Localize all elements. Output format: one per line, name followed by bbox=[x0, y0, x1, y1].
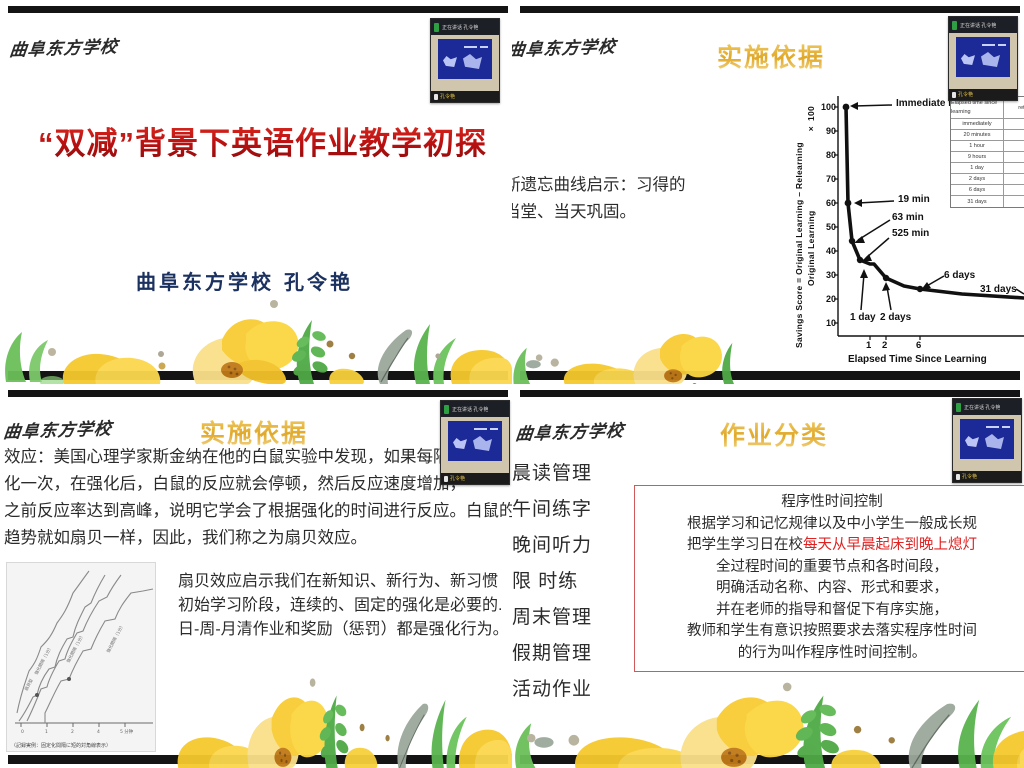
table-row: immediately bbox=[951, 119, 1024, 130]
table-row: 9 hours bbox=[951, 152, 1024, 163]
video-thumbnail-header: 正在讲话 孔令艳 bbox=[441, 401, 509, 417]
slide-panel-title: 曲阜东方学校 “双减”背景下英语作业教学初探 曲阜东方学校 孔令艳 bbox=[0, 0, 512, 384]
table-cell: 1 hour bbox=[969, 143, 985, 149]
slide-panel-basis-curve: 曲阜东方学校 实施依据 斯遗忘曲线启示：习得的 当堂、当天巩固。 bbox=[512, 0, 1024, 384]
table-cell: 31 days bbox=[967, 199, 986, 205]
category-item-weekend[interactable]: 周末管理 bbox=[512, 600, 592, 636]
category-item-holiday[interactable]: 假期管理 bbox=[512, 636, 592, 672]
cumulative-record-plot: 012 45 分钟 扇貝型 強化間隔（1分） 強化間隔（1分） 強化間隔（1分） bbox=[7, 563, 157, 753]
video-thumbnail-footer: 孔令艳 bbox=[949, 89, 1017, 100]
table-cell: 20 minutes bbox=[964, 132, 991, 138]
category-item-timed-practice[interactable]: 限 时练 bbox=[512, 564, 592, 600]
svg-text:5 分钟: 5 分钟 bbox=[120, 728, 134, 735]
slide-top-bar bbox=[520, 390, 1020, 397]
definition-line-highlight: 每天从早晨起床到晚上熄灯 bbox=[803, 537, 977, 553]
svg-text:1: 1 bbox=[45, 729, 48, 735]
slide-bottom-bar bbox=[8, 371, 508, 380]
participant-name: 孔令艳 bbox=[962, 473, 977, 480]
definition-line: 全过程时间的重要节点和各时间段， bbox=[635, 557, 1024, 579]
cumulative-record-chart: 012 45 分钟 扇貝型 強化間隔（1分） 強化間隔（1分） 強化間隔（1分）… bbox=[6, 562, 156, 752]
school-mark: 曲阜东方学校 bbox=[2, 414, 113, 443]
note-line: 扇贝效应启示我们在新知识、新行为、新习惯 bbox=[178, 570, 509, 594]
slide-panel-homework-category: 曲阜东方学校 作业分类 晨读管理 午间练字 晚间听力 限 时练 周末管理 假期管… bbox=[512, 384, 1024, 768]
slide-panel-basis-scallop: 曲阜东方学校 实施依据 效应：美国心理学家斯金纳在他的白鼠实验中发现，如果每隔2… bbox=[0, 384, 512, 768]
shared-screen-preview bbox=[448, 421, 502, 461]
video-thumbnail-header-label: 正在讲话 孔令艳 bbox=[452, 406, 488, 413]
definition-heading: 程序性时间控制 bbox=[635, 492, 1024, 514]
cumulative-record-caption: （記録実例：固定化間隔に短的対角線表示） bbox=[11, 742, 111, 749]
definition-line: 的行为叫作程序性时间控制。 bbox=[635, 643, 1024, 665]
category-item-evening-listening[interactable]: 晚间听力 bbox=[512, 528, 592, 564]
video-thumbnail-header-label: 正在讲话 孔令艳 bbox=[960, 22, 996, 29]
category-item-noon-handwriting[interactable]: 午间练字 bbox=[512, 492, 592, 528]
table-row: 2 days bbox=[951, 174, 1024, 185]
video-thumbnail-header: 正在讲话 孔令艳 bbox=[431, 19, 499, 35]
table-row: 1 hour bbox=[951, 141, 1024, 152]
table-row: 20 minutes bbox=[951, 130, 1024, 141]
presenter-subtitle: 曲阜东方学校 孔令艳 bbox=[136, 266, 353, 295]
video-thumbnail[interactable]: 正在讲话 孔令艳 孔令艳 bbox=[440, 400, 510, 485]
shared-screen-preview bbox=[960, 419, 1014, 459]
table-col-header-elapsed: Elapsed time since learning bbox=[951, 99, 1003, 117]
category-item-morning-reading[interactable]: 晨读管理 bbox=[512, 456, 592, 492]
speaking-indicator-icon bbox=[444, 405, 449, 414]
body-line: 化一次，在强化后，白鼠的反应就会停顿，然后反应速度增加， bbox=[4, 471, 512, 498]
definition-line: 根据学习和记忆规律以及中小学生一般成长规 bbox=[635, 514, 1024, 536]
category-list: 晨读管理 午间练字 晚间听力 限 时练 周末管理 假期管理 活动作业 bbox=[512, 456, 592, 708]
slide-top-bar bbox=[520, 6, 1020, 13]
school-mark: 曲阜东方学校 bbox=[8, 32, 119, 61]
school-mark: 曲阜东方学校 bbox=[512, 32, 618, 61]
body-line: 趋势就如扇贝一样，因此，我们称之为扇贝效应。 bbox=[4, 525, 512, 552]
table-cell: immediately bbox=[962, 121, 991, 127]
section-title: 实施依据 bbox=[717, 38, 825, 74]
note-line: 日-周-月清作业和奖励（惩罚）都是强化行为。 bbox=[178, 618, 509, 642]
svg-text:2: 2 bbox=[71, 729, 74, 735]
shared-screen-preview bbox=[438, 39, 492, 79]
speaking-indicator-icon bbox=[434, 23, 439, 32]
video-thumbnail-header-label: 正在讲话 孔令艳 bbox=[442, 24, 478, 31]
speaking-indicator-icon bbox=[952, 21, 957, 30]
microphone-icon bbox=[444, 476, 448, 482]
microphone-icon bbox=[952, 92, 956, 98]
video-thumbnail-footer: 孔令艳 bbox=[953, 471, 1021, 482]
video-thumbnail-footer: 孔令艳 bbox=[441, 473, 509, 484]
microphone-icon bbox=[434, 94, 438, 100]
category-item-activity[interactable]: 活动作业 bbox=[512, 672, 592, 708]
video-thumbnail[interactable]: 正在讲话 孔令艳 孔令艳 bbox=[948, 16, 1018, 101]
slide-grid: 曲阜东方学校 “双减”背景下英语作业教学初探 曲阜东方学校 孔令艳 bbox=[0, 0, 1024, 768]
video-thumbnail-header-label: 正在讲话 孔令艳 bbox=[964, 404, 1000, 411]
section-title: 作业分类 bbox=[720, 416, 828, 452]
school-mark: 曲阜东方学校 bbox=[514, 416, 625, 445]
slide-top-bar bbox=[8, 6, 508, 13]
forgetting-curve-chart: Savings Score = Original Learning – Rele… bbox=[792, 88, 1024, 358]
definition-line: 并在老师的指导和督促下有序实施， bbox=[635, 600, 1024, 622]
body-line: 斯遗忘曲线启示：习得的 bbox=[512, 172, 686, 199]
slide-bottom-bar bbox=[520, 755, 1020, 764]
slide-bottom-bar bbox=[520, 371, 1020, 380]
body-line: 之前反应率达到高峰，说明它学会了根据强化的时间进行反应。白鼠的 bbox=[4, 498, 512, 525]
table-row: 6 days bbox=[951, 185, 1024, 196]
participant-name: 孔令艳 bbox=[450, 475, 465, 482]
participant-name: 孔令艳 bbox=[958, 91, 973, 98]
elapsed-time-table: Elapsed time since learning ret immediat… bbox=[950, 96, 1024, 208]
definition-box: 程序性时间控制 根据学习和记忆规律以及中小学生一般成长规 把学生学习日在校每天从… bbox=[634, 485, 1024, 672]
video-thumbnail[interactable]: 正在讲话 孔令艳 孔令艳 bbox=[952, 398, 1022, 483]
table-col-header-retention: ret bbox=[1018, 105, 1024, 111]
table-cell: 6 days bbox=[969, 187, 985, 193]
body-line: 效应：美国心理学家斯金纳在他的白鼠实验中发现，如果每隔20 bbox=[4, 444, 512, 471]
slide-body-text: 效应：美国心理学家斯金纳在他的白鼠实验中发现，如果每隔20 化一次，在强化后，白… bbox=[4, 444, 512, 552]
table-row: 31 days bbox=[951, 196, 1024, 207]
speaking-indicator-icon bbox=[956, 403, 961, 412]
slide-bottom-bar bbox=[8, 755, 508, 764]
svg-text:4: 4 bbox=[97, 729, 100, 735]
slide-top-bar bbox=[8, 390, 508, 397]
definition-line: 明确活动名称、内容、形式和要求， bbox=[635, 578, 1024, 600]
participant-name: 孔令艳 bbox=[440, 93, 455, 100]
body-line: 当堂、当天巩固。 bbox=[512, 199, 686, 226]
note-line: 初始学习阶段，连续的、固定的强化是必要的. bbox=[178, 594, 509, 618]
definition-line: 把学生学习日在校每天从早晨起床到晚上熄灯 bbox=[635, 535, 1024, 557]
slide-body-text: 斯遗忘曲线启示：习得的 当堂、当天巩固。 bbox=[512, 172, 686, 226]
table-cell: 2 days bbox=[969, 176, 985, 182]
scallop-note: 扇贝效应启示我们在新知识、新行为、新习惯 初始学习阶段，连续的、固定的强化是必要… bbox=[178, 570, 509, 642]
svg-text:強化間隔（1分）: 強化間隔（1分） bbox=[105, 622, 126, 654]
video-thumbnail-footer: 孔令艳 bbox=[431, 91, 499, 102]
page-title: “双减”背景下英语作业教学初探 bbox=[38, 118, 487, 163]
definition-line-plain: 把学生学习日在校 bbox=[687, 537, 803, 553]
microphone-icon bbox=[956, 474, 960, 480]
video-thumbnail[interactable]: 正在讲话 孔令艳 孔令艳 bbox=[430, 18, 500, 103]
table-row: 1 day bbox=[951, 163, 1024, 174]
shared-screen-preview bbox=[956, 37, 1010, 77]
table-cell: 1 day bbox=[970, 165, 983, 171]
table-cell: 9 hours bbox=[968, 154, 986, 160]
video-thumbnail-header: 正在讲话 孔令艳 bbox=[953, 399, 1021, 415]
definition-line: 教师和学生有意识按照要求去落实程序性时间 bbox=[635, 621, 1024, 643]
svg-text:0: 0 bbox=[21, 729, 24, 735]
video-thumbnail-header: 正在讲话 孔令艳 bbox=[949, 17, 1017, 33]
floral-decoration bbox=[150, 672, 512, 768]
